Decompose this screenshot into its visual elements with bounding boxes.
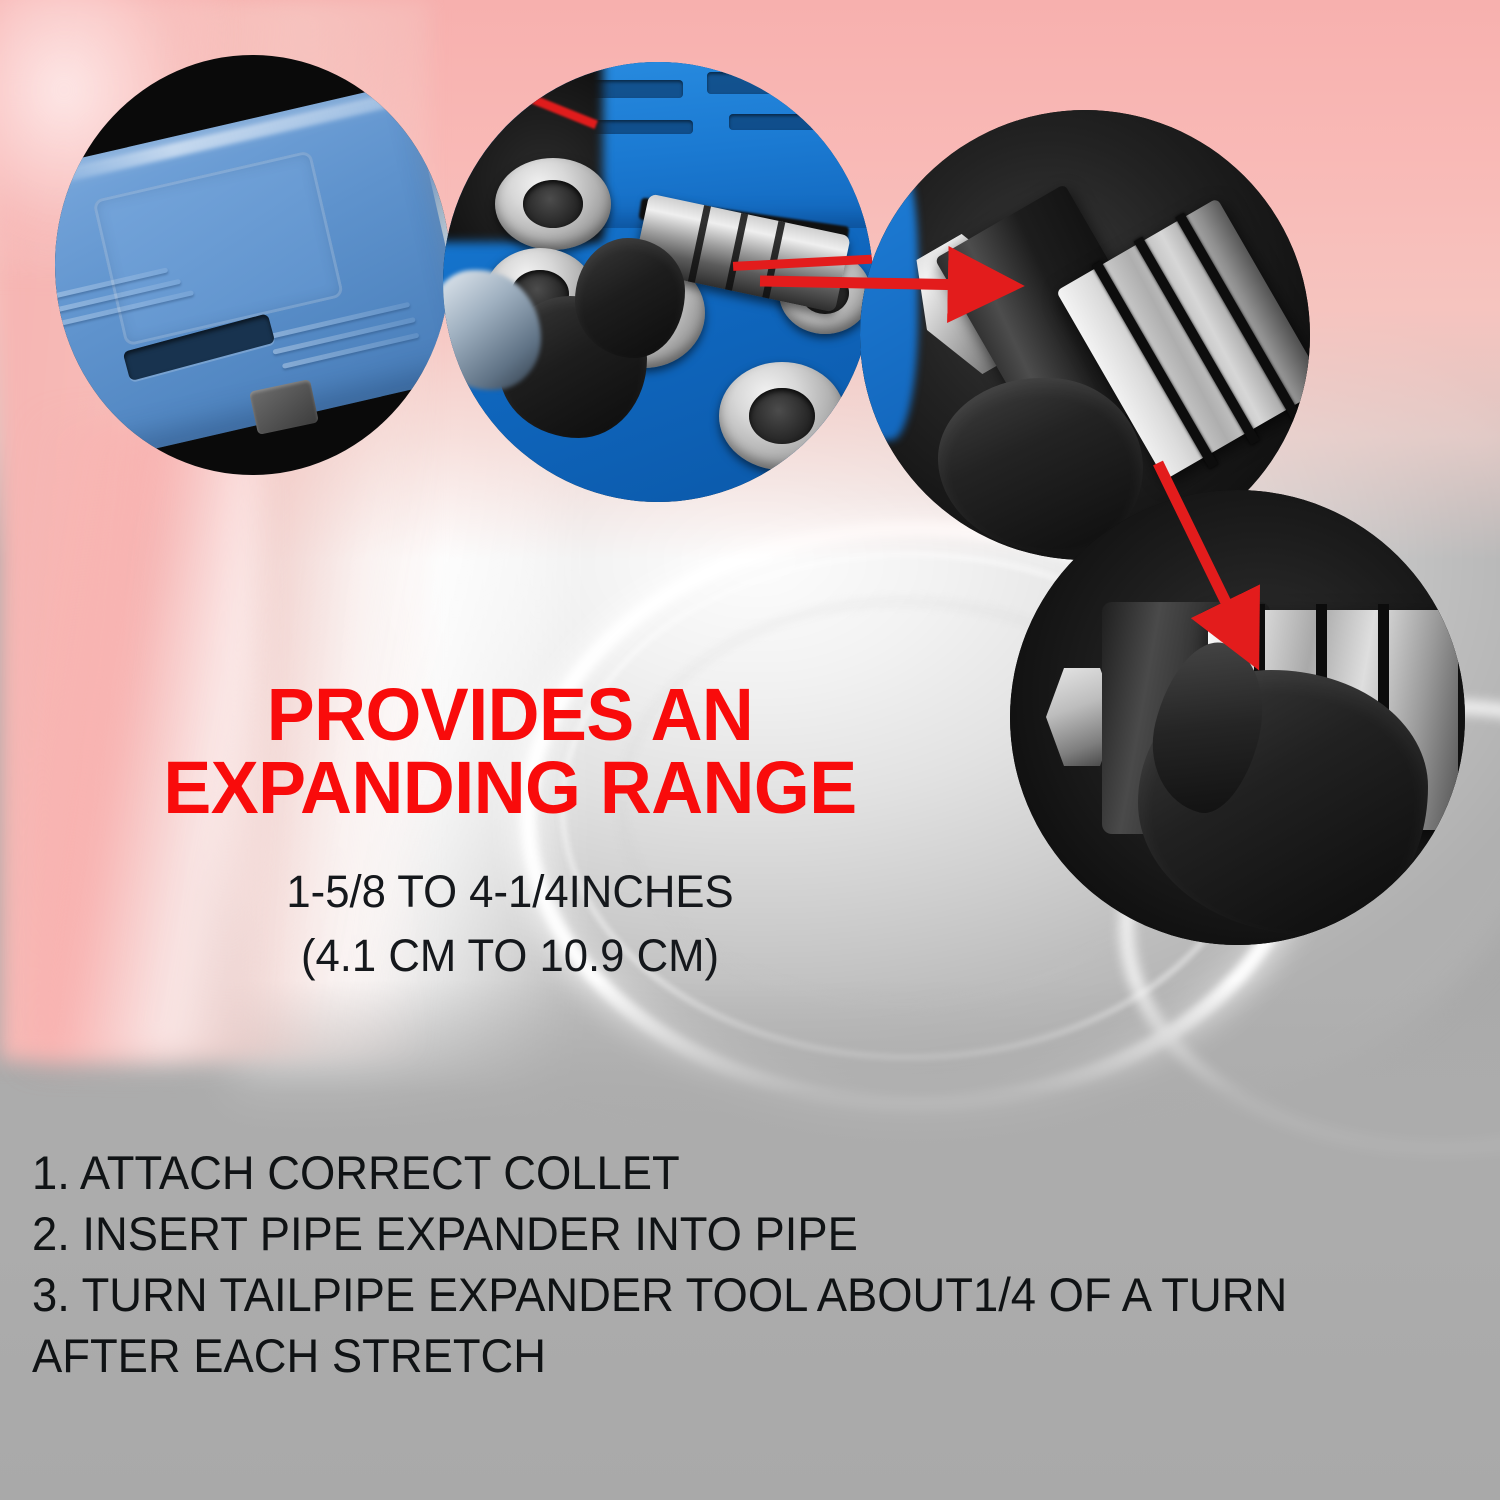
instruction-step: 1. ATTACH CORRECT COLLET: [32, 1142, 1431, 1203]
blue-case-edge: [860, 140, 918, 440]
expander-groove: [688, 205, 711, 283]
range-inches: 1-5/8 TO 4-1/4INCHES: [74, 866, 947, 918]
case-lid-slot: [729, 114, 847, 130]
case-shell: [55, 82, 450, 471]
collet-ring: [719, 362, 845, 470]
headline: PROVIDES AN EXPANDING RANGE: [74, 678, 947, 825]
instruction-step: 3. TURN TAILPIPE EXPANDER TOOL ABOUT1/4 …: [32, 1264, 1431, 1386]
photo-case-closed: [55, 55, 450, 475]
product-infographic: PROVIDES AN EXPANDING RANGE 1-5/8 TO 4-1…: [0, 0, 1500, 1500]
collet-ring: [495, 158, 611, 250]
case-rib: [282, 333, 420, 369]
range-centimeters: (4.1 CM TO 10.9 CM): [74, 930, 947, 982]
collet-segment-gap: [1134, 237, 1260, 446]
photo-case-open: [443, 62, 873, 502]
case-lid-slot: [707, 72, 803, 94]
instruction-step: 2. INSERT PIPE EXPANDER INTO PIPE: [32, 1203, 1431, 1264]
headline-line-1: PROVIDES AN: [74, 678, 947, 751]
case-lid-inset: [92, 150, 344, 347]
instruction-list: 1. ATTACH CORRECT COLLET 2. INSERT PIPE …: [32, 1142, 1431, 1386]
gloved-hand: [575, 238, 685, 358]
headline-line-2: EXPANDING RANGE: [74, 751, 947, 824]
expander-groove: [725, 213, 748, 291]
photo-collet-expanded: [1010, 490, 1465, 945]
